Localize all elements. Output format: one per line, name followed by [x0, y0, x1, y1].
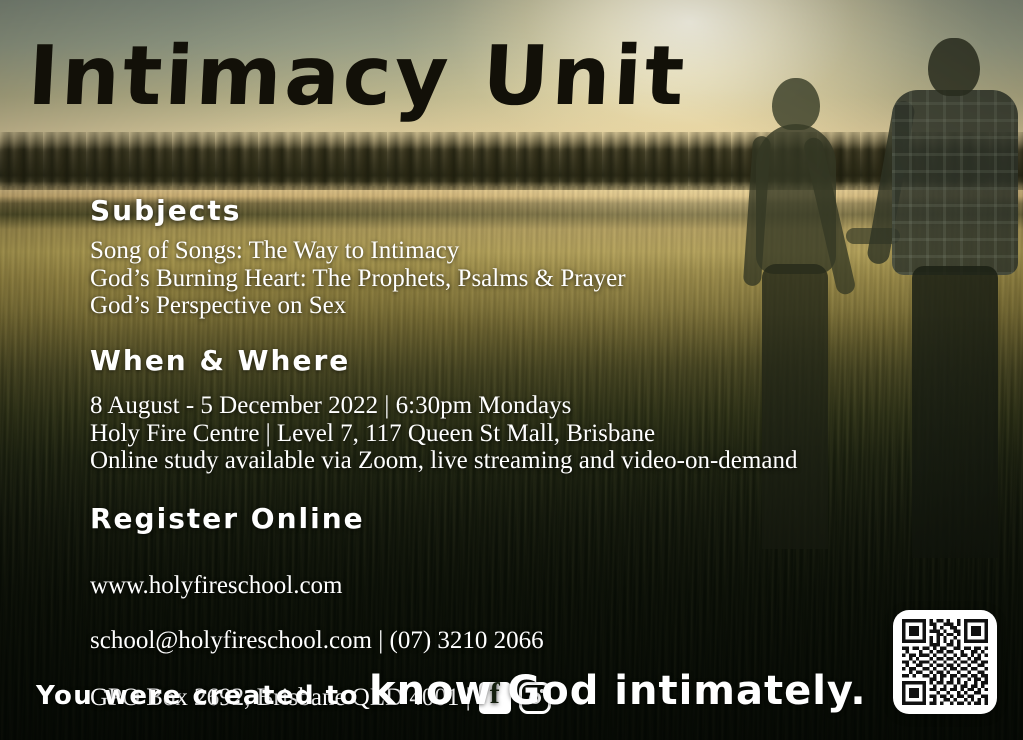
tagline-big: know God intimately. [369, 668, 867, 714]
tagline: You were created to know God intimately. [36, 668, 867, 714]
register-online-heading: Register Online [90, 505, 365, 533]
when-where-details: 8 August - 5 December 2022 | 6:30pm Mond… [90, 392, 797, 475]
poster-title: Intimacy Unit [26, 36, 689, 118]
subjects-heading: Subjects [90, 197, 241, 225]
email-and-phone[interactable]: school@holyfireschool.com | (07) 3210 20… [90, 627, 551, 655]
tagline-small: You were created to [36, 681, 359, 711]
qr-code[interactable] [893, 610, 997, 714]
website-link[interactable]: www.holyfireschool.com [90, 572, 551, 600]
poster: Intimacy Unit Subjects Song of Songs: Th… [0, 0, 1023, 740]
when-where-heading: When & Where [90, 347, 350, 375]
qr-code-svg [902, 619, 988, 705]
subjects-list: Song of Songs: The Way to Intimacy God’s… [90, 237, 626, 320]
